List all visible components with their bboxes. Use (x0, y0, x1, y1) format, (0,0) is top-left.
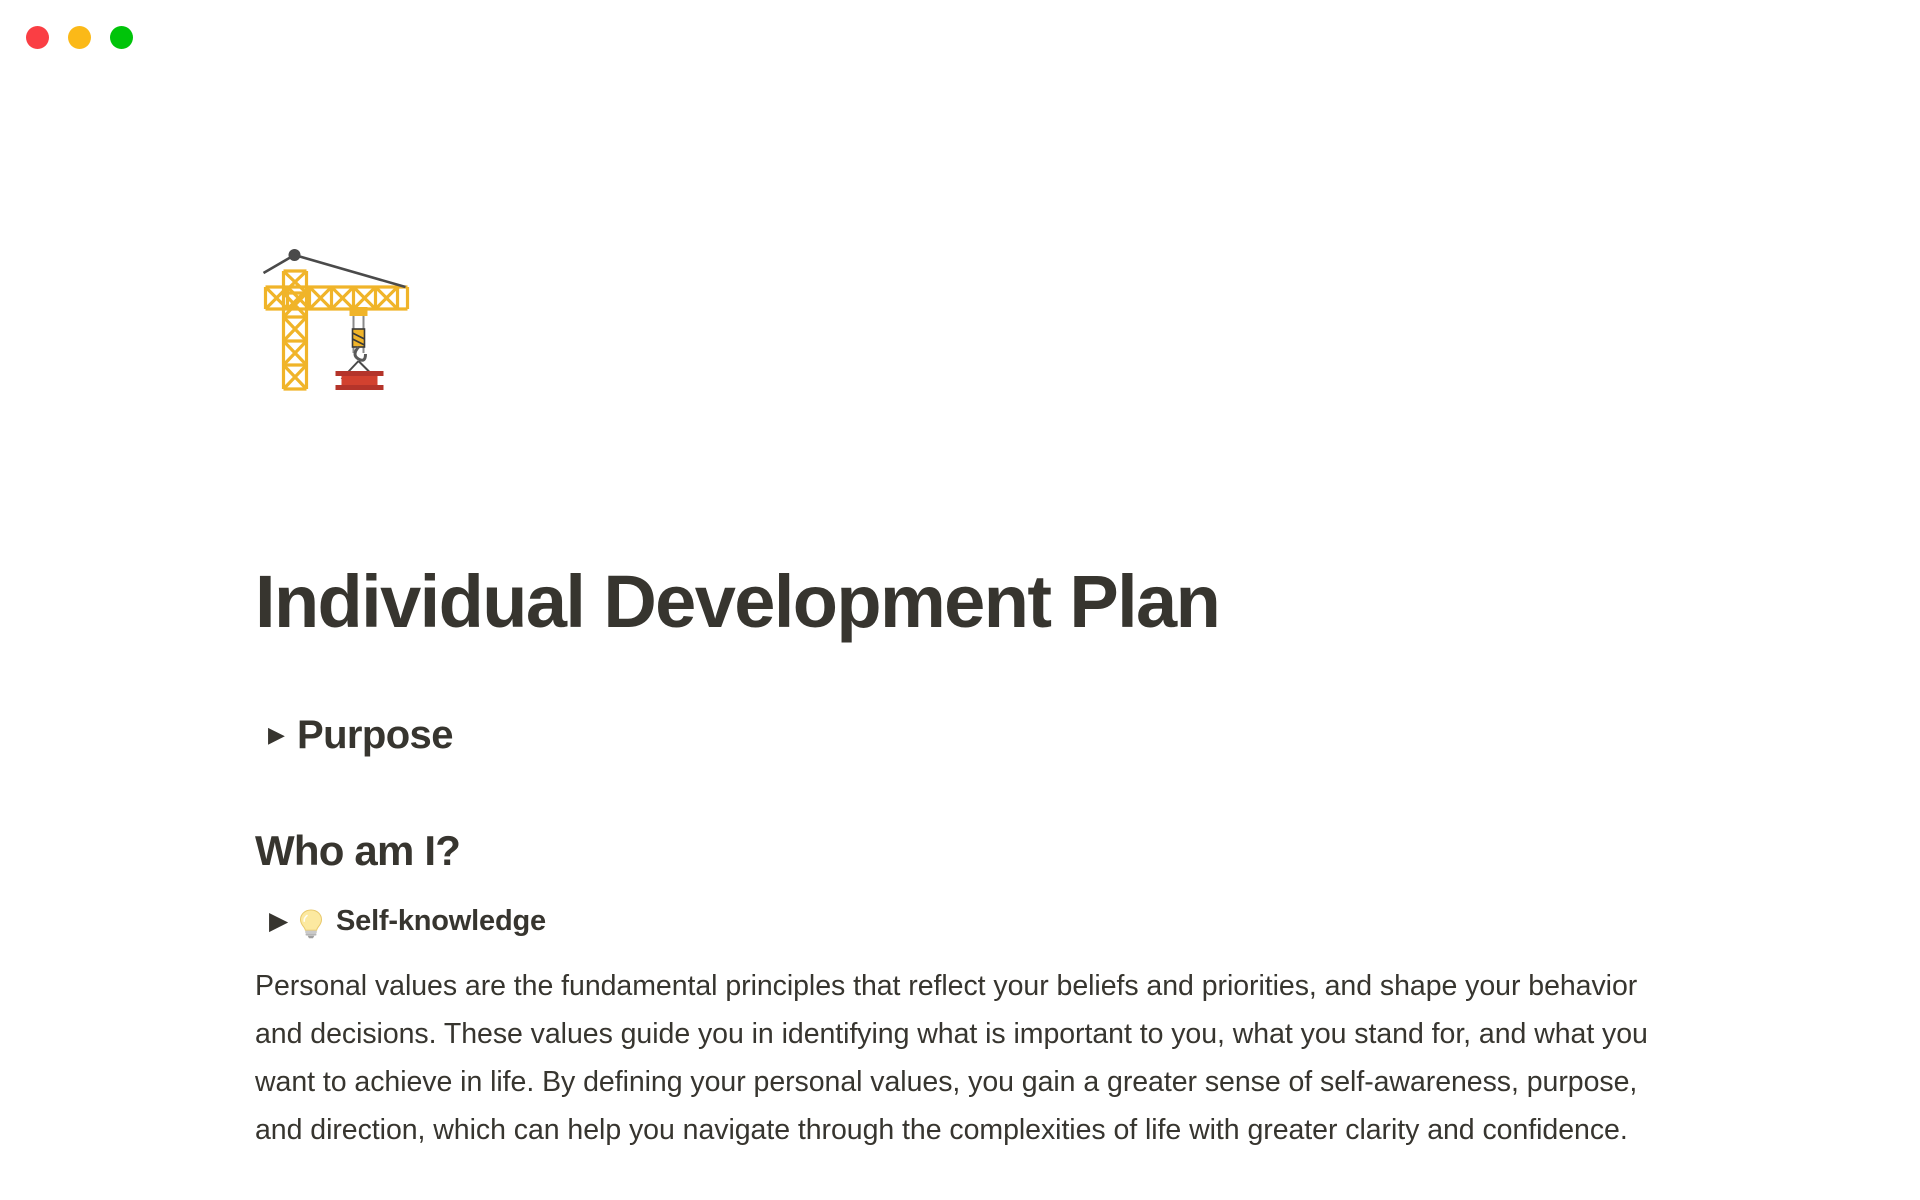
window-titlebar (0, 0, 1920, 78)
construction-crane-icon[interactable] (255, 243, 420, 403)
toggle-triangle-icon[interactable]: ▶ (255, 900, 298, 942)
close-button[interactable] (26, 26, 49, 49)
heading-who-am-i[interactable]: Who am I? (255, 824, 1675, 878)
minimize-button[interactable] (68, 26, 91, 49)
zoom-button[interactable] (110, 26, 133, 49)
toggle-block-self-knowledge[interactable]: ▶ Self-knowledge (255, 900, 1675, 942)
page-body: Individual Development Plan ▶ Purpose Wh… (0, 78, 1920, 1200)
toggle-label-purpose[interactable]: Purpose (297, 708, 453, 762)
toggle-triangle-icon[interactable]: ▶ (255, 708, 297, 762)
toggle-block-purpose[interactable]: ▶ Purpose (255, 708, 1675, 762)
page-title[interactable]: Individual Development Plan (255, 556, 1219, 648)
paragraph-personal-values[interactable]: Personal values are the fundamental prin… (255, 962, 1667, 1154)
toggle-label-self-knowledge[interactable]: Self-knowledge (336, 900, 546, 942)
app-window: Individual Development Plan ▶ Purpose Wh… (0, 0, 1920, 1200)
page-blocks: ▶ Purpose Who am I? ▶ (255, 708, 1675, 1154)
lightbulb-icon (298, 903, 336, 939)
traffic-light-group (26, 26, 133, 49)
